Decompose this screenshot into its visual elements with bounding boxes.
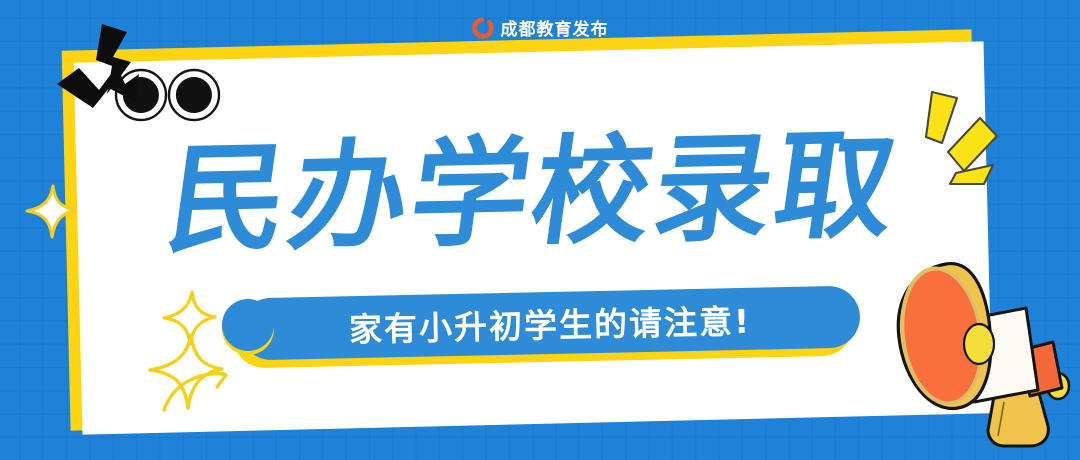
orange-ring-logo-icon xyxy=(472,17,494,39)
subtitle-pill: 家有小升初学生的请注意! xyxy=(239,286,860,361)
swoosh-stroke-icon xyxy=(160,370,230,421)
confetti-shard-icon xyxy=(898,80,1013,195)
megaphone-icon xyxy=(886,246,1080,460)
subtitle-text: 家有小升初学生的请注意! xyxy=(349,295,752,351)
poster-canvas: 民办学校录取 家有小升初学生的请注意! xyxy=(0,0,1080,460)
brand-name: 成都教育发布 xyxy=(501,15,609,40)
four-point-sparkle-icon xyxy=(22,182,80,247)
brand-header: 成都教育发布 xyxy=(0,15,1080,40)
